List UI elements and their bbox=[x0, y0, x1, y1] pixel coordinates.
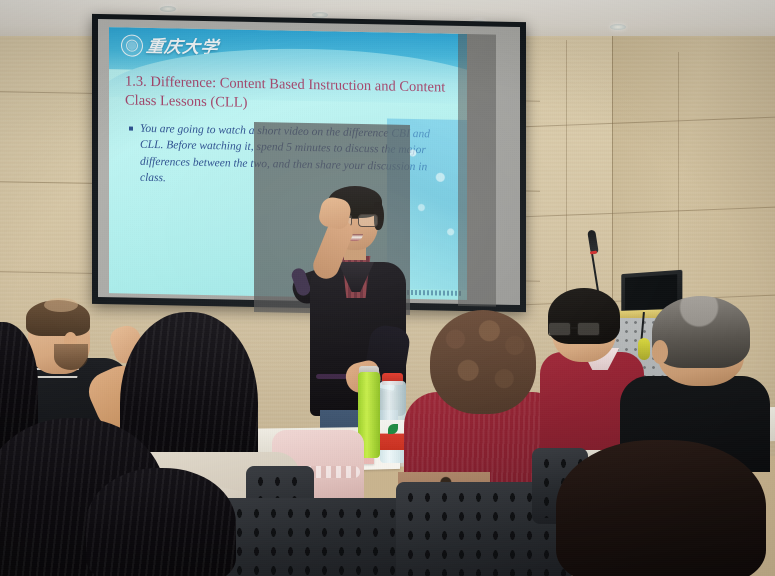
audience-head-foreground-center bbox=[86, 468, 236, 576]
downlight-icon bbox=[312, 12, 328, 18]
downlight-icon bbox=[610, 24, 626, 30]
slide-header-band: 重庆大学 bbox=[109, 27, 467, 76]
classroom-photo: 重庆大学 1.3. Difference: Content Based Inst… bbox=[0, 0, 775, 576]
audience-head-foreground-right bbox=[556, 440, 766, 576]
eyeglass-lens bbox=[577, 322, 600, 336]
projector-beam-shadow bbox=[458, 34, 496, 307]
slide-title: 1.3. Difference: Content Based Instructi… bbox=[125, 72, 455, 117]
bullet-square-icon bbox=[129, 127, 133, 131]
hair bbox=[26, 300, 90, 336]
eyeglasses-icon bbox=[548, 322, 600, 334]
university-seal-icon bbox=[121, 34, 143, 56]
eyeglass-lens bbox=[548, 322, 571, 336]
university-name: 重庆大学 bbox=[145, 32, 221, 58]
ear bbox=[652, 340, 668, 364]
eyeglass-lens bbox=[358, 214, 378, 227]
earpiece-icon bbox=[638, 338, 650, 360]
beard bbox=[54, 344, 88, 370]
curly-hair bbox=[430, 310, 536, 414]
downlight-icon bbox=[160, 6, 176, 12]
